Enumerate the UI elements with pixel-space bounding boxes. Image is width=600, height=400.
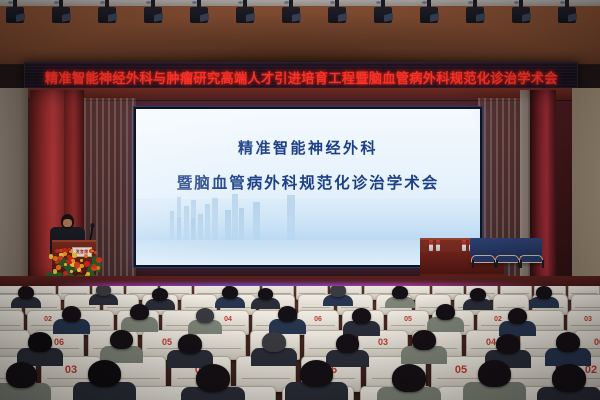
speaker-face <box>63 219 72 227</box>
spotlight-icon <box>510 0 532 30</box>
attendee-head <box>28 332 52 352</box>
skyline-building <box>287 195 295 243</box>
spotlight-icon <box>188 0 210 30</box>
skyline-building <box>177 197 181 244</box>
spotlight-icon <box>234 0 256 30</box>
attendee-head <box>392 364 426 392</box>
bouquet-flower <box>92 264 95 267</box>
water-bottle-icon <box>462 240 466 251</box>
attendee-head <box>222 286 238 299</box>
bouquet-flower <box>84 261 90 267</box>
seat-crease <box>302 307 331 308</box>
screen-title-line-1: 精准智能神经外科 <box>136 137 480 158</box>
bouquet-flower <box>70 270 73 273</box>
seat-crease <box>363 348 403 349</box>
seat-crease <box>0 325 20 326</box>
attendee-head <box>536 286 552 299</box>
flower-bouquet-icon <box>44 244 106 280</box>
attendee-head <box>300 360 333 387</box>
spotlight-icon <box>280 0 302 30</box>
spotlight-icon <box>142 0 164 30</box>
bouquet-flower <box>59 253 62 256</box>
attendee-head <box>110 330 133 349</box>
attendee-head <box>196 308 214 323</box>
chair-back <box>470 238 494 256</box>
bouquet-flower <box>74 262 79 267</box>
chair-legs <box>496 260 520 268</box>
attendee-head <box>278 306 297 322</box>
seat-number: 05 <box>388 316 428 323</box>
water-bottle-icon <box>436 240 440 251</box>
seat-crease <box>201 348 241 349</box>
bouquet-flower <box>68 248 71 251</box>
bouquet-flower <box>66 260 69 263</box>
audience-seating: 02030406050203040605020304060304060502 <box>0 286 600 400</box>
attendee-head <box>470 288 486 301</box>
attendee-head <box>96 286 111 296</box>
chair-back <box>494 238 518 256</box>
bouquet-flower <box>94 251 97 254</box>
attendee-head <box>556 332 580 352</box>
seat-crease <box>242 378 291 379</box>
spotlight-icon <box>50 0 72 30</box>
attendee-head <box>412 330 436 350</box>
seat-crease <box>575 307 600 308</box>
attendee-head <box>152 288 168 301</box>
attendee-head <box>392 286 408 299</box>
bouquet-flower <box>67 255 71 259</box>
skyline-building <box>239 208 244 243</box>
attendee-head <box>262 332 286 352</box>
spotlight-icon <box>556 0 578 30</box>
attendee-head <box>18 286 34 299</box>
attendee-head <box>196 364 230 392</box>
skyline-building <box>212 198 218 243</box>
led-banner-text: 精准智能神经外科与肿瘤研究高端人才引进培育工程暨脑血管病外科规范化诊治学术会 <box>45 67 558 87</box>
water-bottle-icon <box>429 240 433 251</box>
spotlight-icon <box>372 0 394 30</box>
attendee-head <box>508 308 527 324</box>
attendee-head <box>352 308 371 324</box>
bouquet-flower <box>72 253 76 257</box>
seat-number: 03 <box>568 316 600 323</box>
attendee-head <box>88 360 121 387</box>
seat-crease <box>391 325 425 326</box>
bouquet-flower <box>64 263 67 266</box>
skyline-building <box>170 211 174 243</box>
attendee-head <box>178 334 202 354</box>
attendee-head <box>258 288 273 300</box>
skyline-building <box>253 202 260 243</box>
attendee-head <box>436 304 455 320</box>
screen-skyline-graphic <box>136 190 480 243</box>
skyline-building <box>205 204 210 243</box>
attendee-head <box>478 360 511 387</box>
stage-chair <box>470 238 494 268</box>
skyline-building <box>198 214 203 243</box>
attendee-head <box>552 364 586 392</box>
seat-number: 03 <box>359 337 407 347</box>
attendee-head <box>130 304 149 320</box>
stage-chair <box>518 238 542 268</box>
skyline-building <box>225 210 231 243</box>
chair-legs <box>472 260 496 268</box>
attendee-head <box>336 334 359 353</box>
attendee-head <box>496 334 520 354</box>
spotlight-icon <box>464 0 486 30</box>
attendee-head <box>62 306 81 322</box>
spotlight-icon <box>326 0 348 30</box>
stage-chair <box>494 238 518 268</box>
chair-back <box>518 238 542 256</box>
seat-crease <box>571 325 600 326</box>
attendee-head <box>330 286 346 297</box>
spotlight-icon <box>418 0 440 30</box>
bouquet-flower <box>80 259 83 262</box>
skyline-building <box>232 194 238 243</box>
spotlight-icon <box>4 0 26 30</box>
bouquet-flower <box>56 265 61 270</box>
screen-title-line-2: 暨脑血管病外科规范化诊治学术会 <box>136 171 480 193</box>
spotlight-icon <box>96 0 118 30</box>
skyline-building <box>184 206 189 243</box>
bouquet-flower <box>84 254 88 258</box>
bouquet-flower <box>55 249 59 253</box>
attendee-head <box>6 362 37 388</box>
conference-hall-photo: 精准智能神经外科与肿瘤研究高端人才引进培育工程暨脑血管病外科规范化诊治学术会 精… <box>0 0 600 400</box>
seat-crease <box>301 325 335 326</box>
chair-legs <box>520 260 544 268</box>
